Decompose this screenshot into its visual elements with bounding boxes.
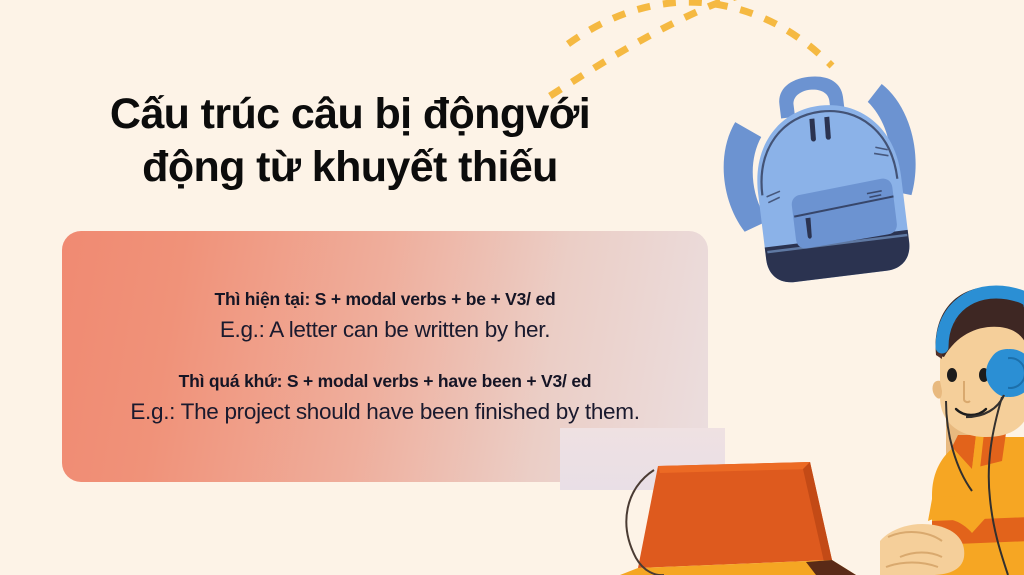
rule-text-present: Thì hiện tại: S + modal verbs + be + V3/… [84, 287, 686, 311]
boy-with-headphones-illustration [880, 285, 1024, 575]
rule-text-past: Thì quá khứ: S + modal verbs + have been… [84, 369, 686, 393]
rule-block-past: Thì quá khứ: S + modal verbs + have been… [84, 369, 686, 427]
example-text-past: E.g.: The project should have been finis… [84, 397, 686, 427]
example-text-present: E.g.: A letter can be written by her. [84, 315, 686, 345]
poster-canvas: Cấu trúc câu bị độngvới động từ khuyết t… [0, 0, 1024, 572]
laptop-icon [610, 450, 900, 575]
rule-block-present: Thì hiện tại: S + modal verbs + be + V3/… [84, 287, 686, 345]
page-title: Cấu trúc câu bị độngvới động từ khuyết t… [0, 88, 700, 194]
backpack-icon [705, 55, 955, 305]
